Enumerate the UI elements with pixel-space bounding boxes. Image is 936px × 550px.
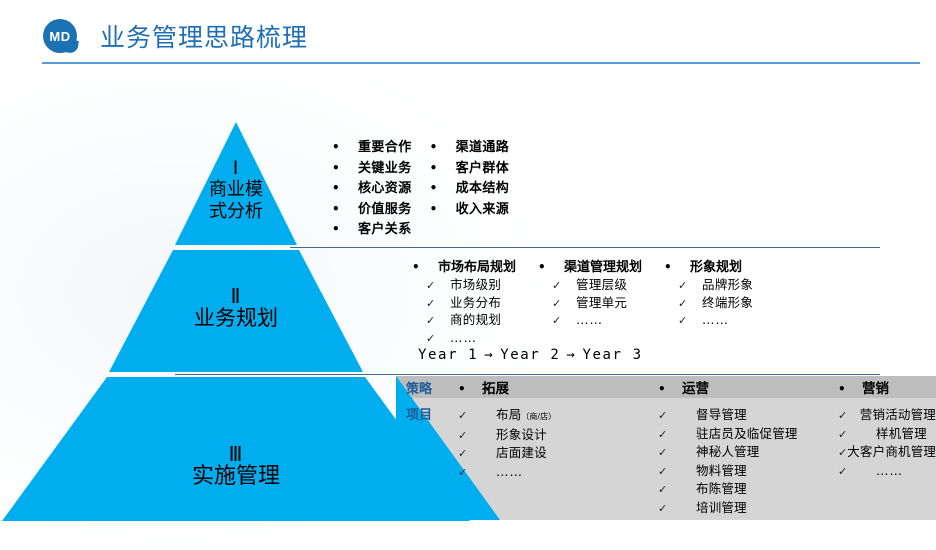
tier-1-bullet-item: •核心资源 (332, 179, 412, 199)
tier-2-check-item: ✓…… (412, 330, 516, 348)
tier-2-check-item: ✓管理层级 (538, 277, 642, 295)
tier-1-bullet-item: •重要合作 (332, 138, 412, 158)
tier-2-check-item: ✓管理单元 (538, 295, 642, 313)
tier-1-column-1: •重要合作•关键业务•核心资源•价值服务•客户关系 (332, 138, 412, 240)
tier-3-item-label: 营销活动管理 (860, 406, 936, 424)
bullet-dot-icon: • (430, 200, 456, 219)
tier-2-group-items: ✓管理层级✓管理单元✓…… (538, 277, 642, 330)
tier-1-bullet-item: •价值服务 (332, 200, 412, 220)
tier-2-group-heading: •渠道管理规划 (538, 256, 642, 275)
tier-2-item-label: …… (576, 312, 603, 329)
tier-1-item-label: 核心资源 (358, 180, 412, 199)
tier-3-check-item: ✓形象设计 (458, 426, 658, 445)
tier-1-bullet-item: •客户群体 (430, 159, 510, 179)
check-mark-icon: ✓ (458, 427, 496, 445)
tier-1-bullet-item: •渠道通路 (430, 138, 510, 158)
bullet-dot-icon: • (658, 382, 682, 396)
tier-1-bullet-item: •客户关系 (332, 220, 412, 240)
bullet-dot-icon: • (332, 179, 358, 198)
tier-2-check-item: ✓终端形象 (664, 295, 753, 313)
tier-1-bullet-item: •关键业务 (332, 159, 412, 179)
tier-1-column-2: •渠道通路•客户群体•成本结构•收入来源 (430, 138, 510, 240)
tier-3-check-item: ✓店面建设 (458, 444, 658, 463)
bullet-dot-icon: • (664, 260, 690, 274)
bullet-dot-icon: • (458, 382, 482, 396)
bullet-dot-icon: • (838, 382, 862, 396)
tier-1-item-label: 客户群体 (456, 160, 510, 179)
tier-2-content: •市场布局规划✓市场级别✓业务分布✓商的规划✓……•渠道管理规划✓管理层级✓管理… (412, 256, 753, 347)
tier-2-group-2: •渠道管理规划✓管理层级✓管理单元✓…… (538, 256, 642, 347)
check-mark-icon: ✓ (658, 426, 696, 444)
tier-2-item-label: 业务分布 (450, 295, 501, 312)
check-mark-icon: ✓ (538, 278, 576, 295)
tier-3-item-label: 物料管理 (696, 462, 747, 480)
check-mark-icon: ✓ (658, 518, 696, 520)
tier-2-item-label: 管理单元 (576, 295, 627, 312)
tier-3-item-label: 驻店员及临促管理 (696, 425, 798, 443)
check-mark-icon: ✓ (538, 296, 576, 313)
tier-2-numeral: Ⅱ (160, 285, 312, 307)
tier-3-check-item: ✓培训管理 (658, 499, 838, 518)
tier-2-group-heading-label: 形象规划 (690, 256, 742, 275)
tier-1-name: 商业模式分析 (184, 179, 288, 223)
tier-3-check-item: ✓营销活动管理 (838, 406, 936, 425)
tier-3-column-heading-2: •运营 (658, 377, 838, 397)
tier-3-column-heading-3: •营销 (838, 377, 936, 397)
bullet-dot-icon: • (430, 138, 456, 157)
tier-2-item-label: 终端形象 (702, 295, 753, 312)
tier-2-group-1: •市场布局规划✓市场级别✓业务分布✓商的规划✓…… (412, 256, 516, 347)
check-mark-icon: ✓ (838, 426, 876, 444)
page-title: 业务管理思路梳理 (100, 18, 308, 54)
check-mark-icon: ✓ (658, 444, 696, 462)
tier-1-item-label: 成本结构 (456, 180, 510, 199)
tier-2-item-label: 管理层级 (576, 277, 627, 294)
tier-3-item-label: 培训管理 (696, 499, 747, 517)
tier-3-check-item: ✓…… (458, 463, 658, 482)
check-mark-icon: ✓ (658, 407, 696, 425)
speech-bubble-logo: MD (43, 19, 79, 55)
pyramid-tier-3-label: Ⅲ 实施管理 (152, 443, 320, 490)
tier-2-item-label: 市场级别 (450, 277, 501, 294)
year-3-label: Year 3 (582, 347, 642, 363)
check-mark-icon: ✓ (838, 407, 860, 425)
tier-3-check-item: ✓物料管理 (658, 462, 838, 481)
tier-3-strategy-label: 策略 (396, 378, 458, 397)
tier-3-numeral: Ⅲ (152, 443, 320, 465)
check-mark-icon: ✓ (658, 463, 696, 481)
tier-3-column-heading-label: 运营 (682, 377, 709, 397)
tier-2-group-heading-label: 渠道管理规划 (564, 256, 642, 275)
slide-header: MD 业务管理思路梳理 (0, 0, 936, 66)
tier-3-panel: 策略•拓展•运营•营销 项目✓布局（商/店）✓形象设计✓店面建设✓……✓督导管理… (396, 376, 936, 520)
tier-3-column-2: ✓督导管理✓驻店员及临促管理✓神秘人管理✓物料管理✓布陈管理✓培训管理✓…… (658, 398, 838, 520)
timeline-arrow-2: → (560, 347, 582, 363)
bullet-dot-icon: • (430, 159, 456, 178)
tier-1-content: •重要合作•关键业务•核心资源•价值服务•客户关系•渠道通路•客户群体•成本结构… (332, 138, 509, 240)
tier-2-group-heading: •形象规划 (664, 256, 753, 275)
tier-1-item-label: 价值服务 (358, 201, 412, 220)
tier-3-body-rows: 项目✓布局（商/店）✓形象设计✓店面建设✓……✓督导管理✓驻店员及临促管理✓神秘… (396, 398, 936, 520)
tier-3-column-heading-1: •拓展 (458, 377, 658, 397)
tier-2-check-item: ✓商的规划 (412, 312, 516, 330)
tier-3-item-label: 样机管理 (876, 425, 927, 443)
tier-1-item-label: 客户关系 (358, 221, 412, 240)
tier-3-item-label: 神秘人管理 (696, 443, 760, 461)
check-mark-icon: ✓ (412, 278, 450, 295)
check-mark-icon: ✓ (664, 313, 702, 330)
tier-2-item-label: 商的规划 (450, 312, 501, 329)
pyramid-tier-1-label: Ⅰ 商业模式分析 (184, 158, 288, 223)
bullet-dot-icon: • (332, 220, 358, 239)
tier-2-check-item: ✓…… (538, 312, 642, 330)
tier-1-item-label: 渠道通路 (456, 139, 510, 158)
check-mark-icon: ✓ (838, 463, 876, 481)
tier-3-check-item: ✓督导管理 (658, 406, 838, 425)
tier-3-name: 实施管理 (152, 465, 320, 490)
bullet-dot-icon: • (332, 138, 358, 157)
timeline-years: Year 1→Year 2→Year 3 (418, 347, 643, 363)
header-divider (42, 62, 920, 64)
tier-3-item-label: 店面建设 (496, 444, 547, 462)
timeline-arrow-1: → (478, 347, 500, 363)
check-mark-icon: ✓ (458, 464, 496, 482)
tier-2-check-item: ✓业务分布 (412, 295, 516, 313)
tier-1-2-divider (290, 247, 880, 248)
tier-3-check-item: ✓样机管理 (838, 425, 936, 444)
tier-3-check-item: ✓…… (838, 462, 936, 481)
tier-2-item-label: 品牌形象 (702, 277, 753, 294)
tier-2-check-item: ✓品牌形象 (664, 277, 753, 295)
tier-1-item-label: 关键业务 (358, 160, 412, 179)
tier-3-column-3: ✓营销活动管理✓样机管理✓大客户商机管理✓…… (838, 398, 936, 520)
tier-2-group-items: ✓品牌形象✓终端形象✓…… (664, 277, 753, 330)
tier-1-bullet-item: •成本结构 (430, 179, 510, 199)
tier-3-item-note: （商/店） (521, 408, 556, 426)
check-mark-icon: ✓ (538, 313, 576, 330)
check-mark-icon: ✓ (658, 481, 696, 499)
tier-3-check-item: ✓神秘人管理 (658, 443, 838, 462)
year-2-label: Year 2 (500, 347, 560, 363)
tier-2-item-label: …… (450, 330, 477, 347)
check-mark-icon: ✓ (664, 278, 702, 295)
tier-3-item-label: …… (696, 517, 723, 520)
check-mark-icon: ✓ (664, 296, 702, 313)
tier-3-header-row: 策略•拓展•运营•营销 (396, 376, 936, 398)
check-mark-icon: ✓ (838, 444, 847, 462)
tier-2-group-items: ✓市场级别✓业务分布✓商的规划✓…… (412, 277, 516, 347)
tier-3-project-label: 项目 (396, 398, 458, 520)
tier-1-bullet-item: •收入来源 (430, 200, 510, 220)
check-mark-icon: ✓ (412, 296, 450, 313)
bullet-dot-icon: • (332, 200, 358, 219)
tier-3-item-label: …… (496, 463, 523, 481)
bullet-dot-icon: • (430, 179, 456, 198)
check-mark-icon: ✓ (412, 331, 450, 348)
tier-3-check-item: ✓驻店员及临促管理 (658, 425, 838, 444)
tier-3-item-label: 督导管理 (696, 406, 747, 424)
bullet-dot-icon: • (332, 159, 358, 178)
check-mark-icon: ✓ (658, 500, 696, 518)
check-mark-icon: ✓ (458, 407, 496, 425)
tier-2-name: 业务规划 (160, 307, 312, 331)
tier-3-check-item: ✓布陈管理 (658, 480, 838, 499)
slide-canvas: MD 业务管理思路梳理 Ⅰ 商业模式分析 Ⅱ 业务规划 Ⅲ 实施管理 •重要合作… (0, 0, 936, 550)
tier-3-item-label: 形象设计 (496, 426, 547, 444)
tier-3-check-item: ✓大客户商机管理 (838, 443, 936, 462)
bullet-dot-icon: • (412, 260, 438, 274)
tier-3-item-label: 大客户商机管理 (847, 443, 936, 461)
tier-2-3-divider (175, 374, 880, 375)
tier-1-numeral: Ⅰ (184, 158, 288, 179)
tier-3-column-1: ✓布局（商/店）✓形象设计✓店面建设✓…… (458, 398, 658, 520)
tier-3-item-label: 布局 (496, 406, 521, 424)
tier-2-check-item: ✓…… (664, 312, 753, 330)
pyramid-tier-2-label: Ⅱ 业务规划 (160, 285, 312, 331)
tier-3-item-label: 布陈管理 (696, 480, 747, 498)
bullet-dot-icon: • (538, 260, 564, 274)
logo-text: MD (43, 19, 77, 53)
tier-3-column-heading-label: 营销 (862, 377, 889, 397)
tier-3-check-item: ✓布局（商/店） (458, 406, 658, 426)
tier-2-group-heading: •市场布局规划 (412, 256, 516, 275)
tier-2-item-label: …… (702, 312, 729, 329)
tier-2-group-heading-label: 市场布局规划 (438, 256, 516, 275)
tier-3-check-item: ✓…… (658, 517, 838, 520)
tier-3-item-label: …… (876, 462, 903, 480)
tier-2-check-item: ✓市场级别 (412, 277, 516, 295)
tier-2-group-3: •形象规划✓品牌形象✓终端形象✓…… (664, 256, 753, 347)
tier-1-item-label: 重要合作 (358, 139, 412, 158)
year-1-label: Year 1 (418, 347, 478, 363)
check-mark-icon: ✓ (458, 445, 496, 463)
tier-1-item-label: 收入来源 (456, 201, 510, 220)
tier-3-column-heading-label: 拓展 (482, 377, 509, 397)
check-mark-icon: ✓ (412, 313, 450, 330)
